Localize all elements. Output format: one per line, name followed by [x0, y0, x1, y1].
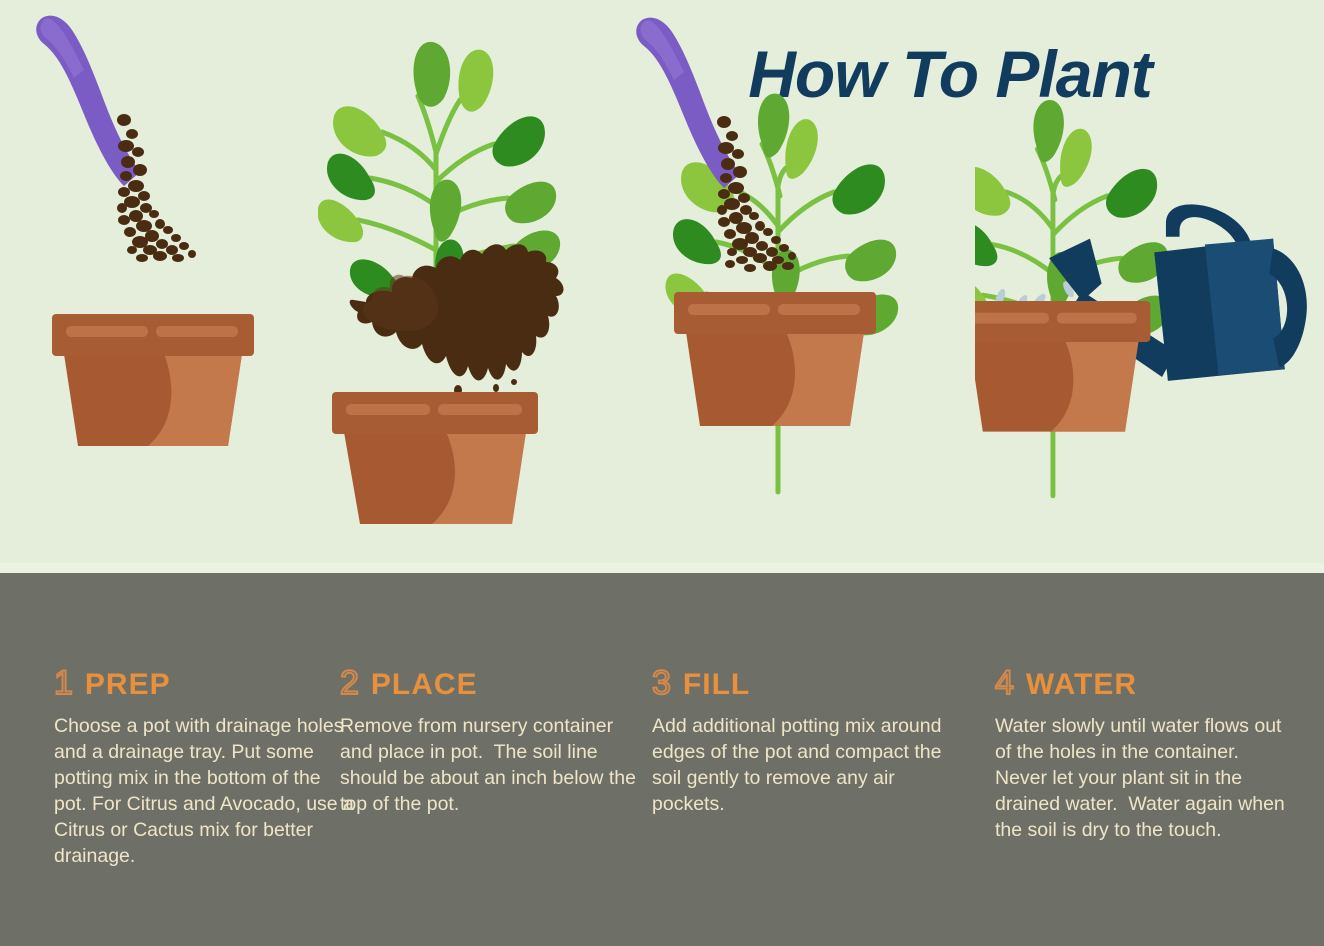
step-4-number: 4 [995, 666, 1014, 700]
step-3-number: 3 [652, 666, 671, 700]
step-3-illustration [630, 0, 970, 680]
step-4-scene: 4 WATER Water slowly until water flows o… [975, 0, 1315, 946]
step-3-body: Add additional potting mix around edges … [652, 714, 952, 818]
infographic-canvas: How To Plant [0, 0, 1324, 946]
step-3-caption: 3 FILL Add additional potting mix around… [652, 666, 952, 818]
step-4-illustration [975, 0, 1315, 680]
step-4-body: Water slowly until water flows out of th… [995, 714, 1295, 844]
step-1-illustration [28, 0, 368, 680]
step-3-scene: 3 FILL Add additional potting mix around… [630, 0, 970, 946]
step-2-caption: 2 PLACE Remove from nursery container an… [340, 666, 640, 818]
plant-icon [975, 100, 1170, 496]
step-1-heading: 1 PREP [54, 666, 354, 700]
step-4-label: WATER [1026, 670, 1137, 700]
step-2-number: 2 [340, 666, 359, 700]
step-4-caption: 4 WATER Water slowly until water flows o… [995, 666, 1295, 844]
step-2-body: Remove from nursery container and place … [340, 714, 640, 818]
step-3-heading: 3 FILL [652, 666, 952, 700]
soil-stream-icon [117, 114, 196, 262]
step-1-number: 1 [54, 666, 73, 700]
step-2-heading: 2 PLACE [340, 666, 640, 700]
step-1-caption: 1 PREP Choose a pot with drainage holes … [54, 666, 354, 870]
planted-pot-icon [975, 301, 1150, 432]
empty-pot-icon [52, 314, 254, 446]
step-2-label: PLACE [371, 670, 478, 700]
planted-pot-icon [674, 292, 876, 426]
step-4-heading: 4 WATER [995, 666, 1295, 700]
step-1-label: PREP [85, 670, 171, 700]
step-2-scene: 2 PLACE Remove from nursery container an… [318, 0, 658, 946]
step-1-body: Choose a pot with drainage holes and a d… [54, 714, 354, 870]
step-3-label: FILL [683, 670, 750, 700]
empty-pot-icon [332, 392, 538, 524]
step-1-scene: 1 PREP Choose a pot with drainage holes … [28, 0, 368, 946]
step-2-illustration [318, 0, 658, 680]
